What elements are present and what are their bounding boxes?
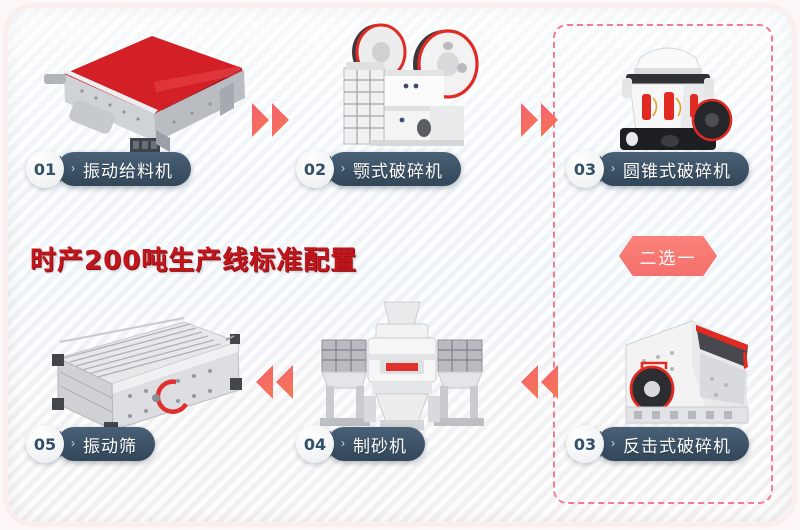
sand-making-machine-image [306, 296, 494, 438]
step-label-02[interactable]: 02 › 颚式破碎机 [296, 150, 461, 188]
vibrating-feeder-image [34, 22, 248, 160]
flow-diagram-canvas: 时产200吨生产线标准配置 二选一 01 › 振动给料机 02 › 颚式破碎机 … [0, 0, 800, 530]
step-name-pill[interactable]: › 振动筛 [57, 427, 155, 461]
chevron-left-icon [276, 365, 293, 399]
jaw-crusher-image [330, 16, 492, 158]
arrow-jaw-to-cone [521, 103, 561, 137]
step-label-01[interactable]: 01 › 振动给料机 [26, 150, 191, 188]
step-name-pill[interactable]: › 反击式破碎机 [597, 427, 749, 461]
step-number-badge: 02 [296, 150, 334, 188]
step-number-badge: 05 [26, 425, 64, 463]
chevron-right-icon: › [611, 162, 616, 174]
step-label-text: 反击式破碎机 [623, 432, 731, 457]
cone-crusher-image [596, 28, 740, 160]
step-name-pill[interactable]: › 振动给料机 [57, 152, 191, 186]
chevron-right-icon: › [71, 437, 76, 449]
step-name-pill[interactable]: › 圆锥式破碎机 [597, 152, 749, 186]
step-label-text: 圆锥式破碎机 [623, 157, 731, 182]
step-number-badge: 04 [296, 425, 334, 463]
step-label-text: 振动给料机 [83, 157, 173, 182]
step-number-badge: 03 [566, 425, 604, 463]
chevron-right-icon [541, 103, 558, 137]
arrow-impact-to-sand [521, 365, 561, 399]
chevron-left-icon [541, 365, 558, 399]
step-label-04[interactable]: 04 › 制砂机 [296, 425, 425, 463]
step-name-pill[interactable]: › 制砂机 [327, 427, 425, 461]
chevron-right-icon: › [611, 437, 616, 449]
step-label-text: 颚式破碎机 [353, 157, 443, 182]
page-title: 时产200吨生产线标准配置 [30, 240, 357, 277]
step-number-badge: 01 [26, 150, 64, 188]
step-name-pill[interactable]: › 颚式破碎机 [327, 152, 461, 186]
chevron-right-icon [272, 103, 289, 137]
impact-crusher-image [596, 305, 764, 433]
step-label-03-cone[interactable]: 03 › 圆锥式破碎机 [566, 150, 749, 188]
step-number-badge: 03 [566, 150, 604, 188]
vibrating-screen-image [34, 312, 250, 438]
chevron-left-icon [256, 365, 273, 399]
step-label-text: 振动筛 [83, 432, 137, 457]
arrow-sand-to-screen [256, 365, 296, 399]
step-label-text: 制砂机 [353, 432, 407, 457]
step-label-03-impact[interactable]: 03 › 反击式破碎机 [566, 425, 749, 463]
chevron-right-icon: › [341, 437, 346, 449]
chevron-right-icon: › [341, 162, 346, 174]
chevron-right-icon [252, 103, 269, 137]
step-label-05[interactable]: 05 › 振动筛 [26, 425, 155, 463]
choose-one-of-two-badge: 二选一 [619, 236, 717, 276]
chevron-left-icon [521, 365, 538, 399]
arrow-feeder-to-jaw [252, 103, 292, 137]
chevron-right-icon: › [71, 162, 76, 174]
chevron-right-icon [521, 103, 538, 137]
